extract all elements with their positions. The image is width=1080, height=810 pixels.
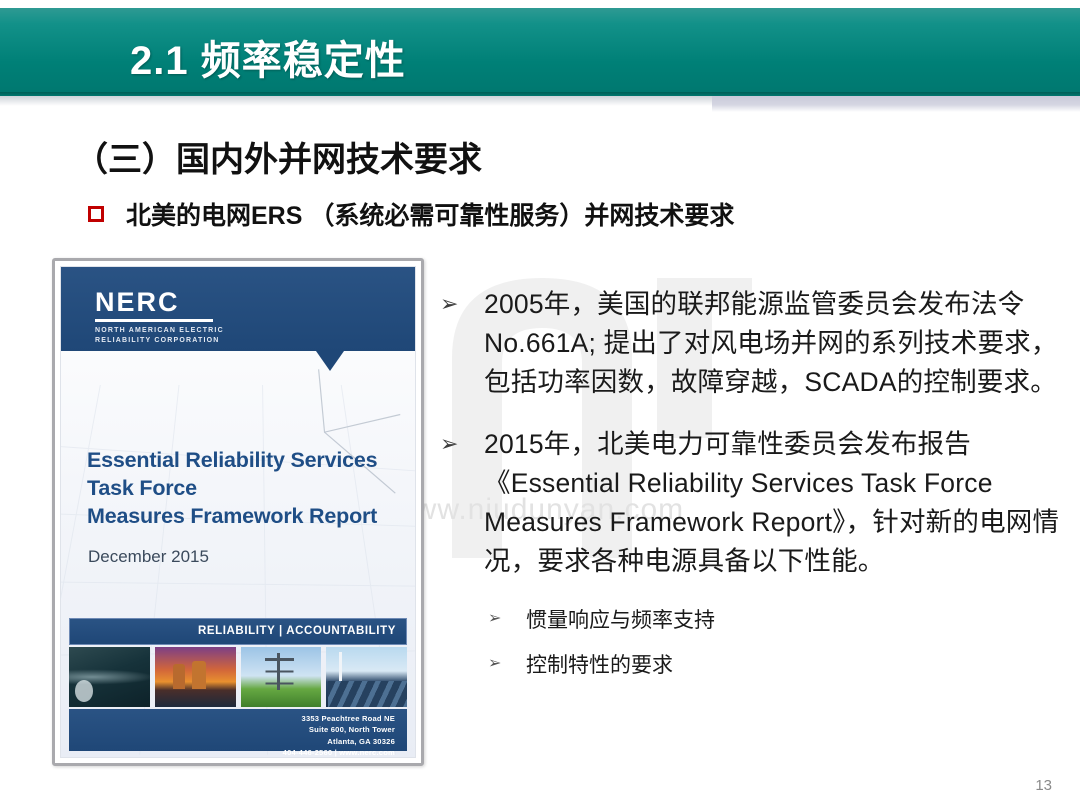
sub-bullet-item: ➢ 惯量响应与频率支持: [488, 604, 1060, 638]
arrow-bullet-icon: ➢: [440, 285, 484, 321]
photo-transmission-tower: [241, 647, 322, 707]
nerc-logo: NERC NORTH AMERICAN ELECTRIC RELIABILITY…: [95, 289, 224, 346]
red-square-bullet-icon: [88, 206, 104, 222]
sub-heading-row: 北美的电网ERS （系统必需可靠性服务）并网技术要求: [88, 196, 734, 232]
bullet-text: 2015年，北美电力可靠性委员会发布报告《Essential Reliabili…: [484, 425, 1060, 582]
header-shadow-fade: [0, 96, 712, 106]
cover-title-line-3: Measures Framework Report: [87, 503, 377, 531]
sub-bullet-text: 控制特性的要求: [526, 649, 1060, 683]
cover-ribbon-text: RELIABILITY | ACCOUNTABILITY: [198, 625, 396, 637]
cover-address-line-3: Atlanta, GA 30326: [69, 736, 395, 747]
nerc-logo-rule: [95, 319, 213, 322]
sub-bullet-text: 惯量响应与频率支持: [526, 604, 1060, 638]
bullet-text: 2005年，美国的联邦能源监管委员会发布法令No.661A; 提出了对风电场并网…: [484, 285, 1060, 403]
section-heading: （三）国内外并网技术要求: [74, 132, 482, 181]
nerc-logo-subtitle-1: NORTH AMERICAN ELECTRIC: [95, 326, 224, 336]
arrow-sub-bullet-icon: ➢: [488, 604, 526, 632]
cover-title-line-1: Essential Reliability Services: [87, 447, 377, 475]
page-title: 2.1 频率稳定性: [130, 28, 406, 86]
sub-bullet-item: ➢ 控制特性的要求: [488, 649, 1060, 683]
photo-cooling-towers: [155, 647, 236, 707]
cover-address-line-2: Suite 600, North Tower: [69, 724, 395, 735]
header-under-strip: [712, 96, 1080, 112]
photo-wind-and-solar: [326, 647, 407, 707]
sub-heading-text: 北美的电网ERS （系统必需可靠性服务）并网技术要求: [126, 196, 734, 232]
cover-address-line-1: 3353 Peachtree Road NE: [69, 713, 395, 724]
cover-date: December 2015: [88, 547, 209, 567]
slide-canvas: 2.1 频率稳定性 www.niudunyan.com （三）国内外并网技术要求…: [0, 0, 1080, 810]
bullet-item: ➢ 2005年，美国的联邦能源监管委员会发布法令No.661A; 提出了对风电场…: [440, 285, 1060, 403]
cover-title: Essential Reliability Services Task Forc…: [87, 447, 377, 531]
cover-ribbon: RELIABILITY | ACCOUNTABILITY: [69, 618, 407, 645]
nerc-logo-subtitle-2: RELIABILITY CORPORATION: [95, 336, 224, 346]
arrow-bullet-icon: ➢: [440, 425, 484, 461]
cover-inner: NERC NORTH AMERICAN ELECTRIC RELIABILITY…: [60, 266, 416, 758]
cover-address-block: 3353 Peachtree Road NE Suite 600, North …: [69, 709, 407, 751]
nerc-logo-wordmark: NERC: [95, 289, 224, 316]
page-number: 13: [1035, 777, 1052, 794]
cover-address-line-4: 404-446-2560 | www.nerc.com: [69, 747, 395, 758]
bullet-list: ➢ 2005年，美国的联邦能源监管委员会发布法令No.661A; 提出了对风电场…: [440, 285, 1060, 695]
nerc-report-cover-image: NERC NORTH AMERICAN ELECTRIC RELIABILITY…: [52, 258, 424, 766]
photo-control-room: [69, 647, 150, 707]
arrow-sub-bullet-icon: ➢: [488, 649, 526, 677]
cover-title-line-2: Task Force: [87, 475, 377, 503]
cover-notch-shape: [316, 351, 344, 371]
sub-bullet-list: ➢ 惯量响应与频率支持 ➢ 控制特性的要求: [488, 604, 1060, 683]
bullet-item: ➢ 2015年，北美电力可靠性委员会发布报告《Essential Reliabi…: [440, 425, 1060, 582]
cover-photo-strip: [69, 647, 407, 707]
